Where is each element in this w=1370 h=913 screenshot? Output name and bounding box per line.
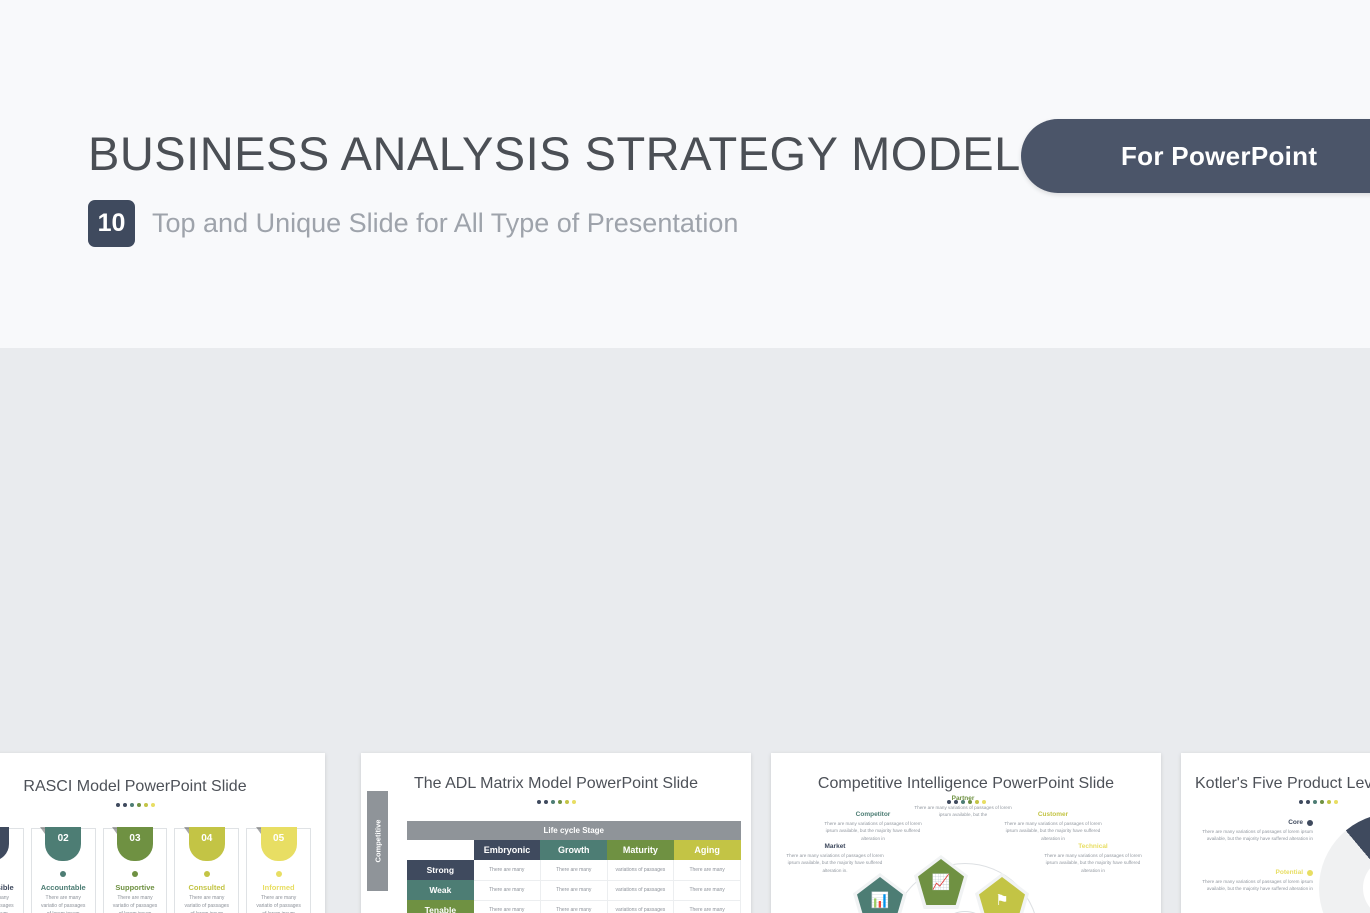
ci-note: TechnicalThere are many variations of pa… bbox=[1043, 843, 1143, 874]
ci-node-label: Technical bbox=[1043, 843, 1143, 850]
rasci-item[interactable]: 05InformedThere are many variatio of pas… bbox=[246, 828, 311, 913]
rasci-body: There are many variatio of passages of l… bbox=[182, 895, 231, 913]
slide-dot bbox=[544, 800, 548, 804]
adl-cell: There are many bbox=[540, 860, 607, 880]
slide-dot bbox=[151, 803, 155, 807]
adl-row-header: Tenable bbox=[407, 900, 474, 913]
slide-card-adl-matrix[interactable]: The ADL Matrix Model PowerPoint Slide Co… bbox=[361, 753, 751, 913]
rasci-items: 01ResponsibleThere are many variatio of … bbox=[0, 828, 311, 913]
slide-dot bbox=[1313, 800, 1317, 804]
kotler-note: PotentialThere are many variations of pa… bbox=[1195, 869, 1313, 893]
rasci-label: Informed bbox=[247, 883, 310, 892]
adl-cell: variations of passages bbox=[607, 860, 674, 880]
adl-cell: There are many bbox=[674, 860, 741, 880]
rasci-number-tab: 01 bbox=[0, 827, 9, 861]
adl-cell: variations of passages bbox=[607, 900, 674, 913]
adl-row-header: Strong bbox=[407, 860, 474, 880]
slide-title: The ADL Matrix Model PowerPoint Slide bbox=[361, 775, 751, 793]
ci-node-body: There are many variations of passages of… bbox=[913, 804, 1013, 819]
rasci-number-tab: 02 bbox=[45, 827, 81, 861]
rasci-body: There are many variatio of passages of l… bbox=[39, 895, 88, 913]
ci-pentagon[interactable]: 📊 bbox=[857, 877, 903, 913]
slide-count-badge: 10 bbox=[88, 200, 135, 247]
adl-cell: There are many bbox=[474, 860, 541, 880]
slide-card-kotler[interactable]: Kotler's Five Product Level Slide ⚙ Core… bbox=[1181, 753, 1370, 913]
ci-diagram: 🌐 🏦MarketThere are many variations of pa… bbox=[771, 815, 1161, 913]
slide-dot bbox=[558, 800, 562, 804]
bar-chart-icon: 📊 bbox=[871, 891, 890, 909]
hero-subtitle-row: 10 Top and Unique Slide for All Type of … bbox=[88, 200, 738, 247]
rasci-body: There are many variatio of passages of l… bbox=[111, 895, 160, 913]
ci-note: CustomerThere are many variations of pas… bbox=[1003, 811, 1103, 842]
slide-dots bbox=[1181, 800, 1370, 804]
slide-dots bbox=[361, 800, 751, 804]
slide-gallery: RASCI Model PowerPoint Slide 01Responsib… bbox=[0, 348, 1370, 913]
adl-cell: variations of passages bbox=[607, 880, 674, 900]
slide-dot bbox=[123, 803, 127, 807]
kotler-note-label: Potential bbox=[1195, 869, 1313, 876]
slide-dots bbox=[0, 803, 325, 807]
slide-card-competitive-intelligence[interactable]: Competitive Intelligence PowerPoint Slid… bbox=[771, 753, 1161, 913]
adl-column-header: Growth bbox=[540, 840, 607, 860]
slide-title: Competitive Intelligence PowerPoint Slid… bbox=[771, 775, 1161, 793]
slide-dot bbox=[1306, 800, 1310, 804]
adl-cell: There are many bbox=[540, 880, 607, 900]
slide-dot bbox=[1327, 800, 1331, 804]
flag-icon: ⚑ bbox=[995, 891, 1008, 909]
slide-card-rasci[interactable]: RASCI Model PowerPoint Slide 01Responsib… bbox=[0, 753, 325, 913]
kotler-note-dot bbox=[1307, 820, 1313, 826]
rasci-label: Accountable bbox=[32, 883, 95, 892]
rasci-body: There are many variatio of passages of l… bbox=[254, 895, 303, 913]
rasci-label: Supportive bbox=[104, 883, 167, 892]
rasci-label: Consulted bbox=[175, 883, 238, 892]
slide-dot bbox=[1299, 800, 1303, 804]
for-powerpoint-label: For PowerPoint bbox=[1121, 141, 1317, 172]
adl-tbody: StrongThere are manyThere are manyvariat… bbox=[407, 860, 741, 913]
slide-dot bbox=[144, 803, 148, 807]
kotler-note-body: There are many variations of passages of… bbox=[1195, 878, 1313, 893]
adl-row-header: Weak bbox=[407, 880, 474, 900]
slide-dot bbox=[137, 803, 141, 807]
adl-cell: There are many bbox=[674, 880, 741, 900]
rasci-dot bbox=[60, 871, 66, 877]
rasci-number-tab: 03 bbox=[117, 827, 153, 861]
ci-note: CompetitorThere are many variations of p… bbox=[823, 811, 923, 842]
adl-corner bbox=[407, 840, 474, 860]
adl-super-row: Life cycle Stage bbox=[407, 821, 741, 840]
adl-column-header: Aging bbox=[674, 840, 741, 860]
rasci-item[interactable]: 02AccountableThere are many variatio of … bbox=[31, 828, 96, 913]
adl-axis-label-text: Competitive bbox=[373, 820, 382, 863]
table-row: TenableThere are manyThere are manyvaria… bbox=[407, 900, 741, 913]
rasci-item[interactable]: 03SupportiveThere are many variatio of p… bbox=[103, 828, 168, 913]
rasci-number-tab: 04 bbox=[189, 827, 225, 861]
kotler-note-dot bbox=[1307, 870, 1313, 876]
ci-note: PartnerThere are many variations of pass… bbox=[913, 795, 1013, 819]
ci-node-body: There are many variations of passages of… bbox=[1003, 820, 1103, 842]
slide-dot bbox=[130, 803, 134, 807]
rasci-number-tab: 05 bbox=[261, 827, 297, 861]
factory-chart-icon: 📈 bbox=[932, 873, 951, 891]
rasci-dot bbox=[204, 871, 210, 877]
adl-cell: There are many bbox=[540, 900, 607, 913]
adl-thead: Life cycle Stage EmbryonicGrowthMaturity… bbox=[407, 821, 741, 860]
rasci-dot bbox=[276, 871, 282, 877]
ci-node-body: There are many variations of passages of… bbox=[823, 820, 923, 842]
slide-dot bbox=[1320, 800, 1324, 804]
slide-dot bbox=[537, 800, 541, 804]
kotler-donut-chart: ⚙ bbox=[1319, 813, 1370, 913]
ci-node-body: There are many variations of passages of… bbox=[785, 852, 885, 874]
ci-node-label: Partner bbox=[913, 795, 1013, 802]
rasci-dot bbox=[132, 871, 138, 877]
adl-super-header: Life cycle Stage bbox=[407, 821, 741, 840]
slide-dot bbox=[572, 800, 576, 804]
kotler-note-label: Core bbox=[1195, 819, 1313, 826]
ci-note: MarketThere are many variations of passa… bbox=[785, 843, 885, 874]
adl-table-wrap: Life cycle Stage EmbryonicGrowthMaturity… bbox=[407, 821, 741, 913]
table-row: StrongThere are manyThere are manyvariat… bbox=[407, 860, 741, 880]
slide-title: Kotler's Five Product Level Slide bbox=[1181, 775, 1370, 793]
for-powerpoint-badge: For PowerPoint bbox=[1021, 119, 1370, 193]
kotler-note: CoreThere are many variations of passage… bbox=[1195, 819, 1313, 843]
ci-node-label: Customer bbox=[1003, 811, 1103, 818]
slide-title: RASCI Model PowerPoint Slide bbox=[0, 778, 325, 796]
slide-dot bbox=[116, 803, 120, 807]
hero-subtitle: Top and Unique Slide for All Type of Pre… bbox=[152, 208, 738, 239]
page-root: BUSINESS ANALYSIS STRATEGY MODEL 10 Top … bbox=[0, 0, 1370, 913]
rasci-item[interactable]: 04ConsultedThere are many variatio of pa… bbox=[174, 828, 239, 913]
ci-node-body: There are many variations of passages of… bbox=[1043, 852, 1143, 874]
ci-node-label: Competitor bbox=[823, 811, 923, 818]
adl-axis-label: Competitive bbox=[367, 791, 388, 891]
adl-table: Life cycle Stage EmbryonicGrowthMaturity… bbox=[407, 821, 741, 913]
hero-section: BUSINESS ANALYSIS STRATEGY MODEL 10 Top … bbox=[0, 0, 1370, 348]
adl-cell: There are many bbox=[474, 880, 541, 900]
adl-column-header: Maturity bbox=[607, 840, 674, 860]
slide-dot bbox=[565, 800, 569, 804]
ci-node-label: Market bbox=[785, 843, 885, 850]
adl-column-header: Embryonic bbox=[474, 840, 541, 860]
adl-cell: There are many bbox=[674, 900, 741, 913]
slide-dot bbox=[551, 800, 555, 804]
rasci-item[interactable]: 01ResponsibleThere are many variatio of … bbox=[0, 828, 24, 913]
slide-dot bbox=[1334, 800, 1338, 804]
table-row: WeakThere are manyThere are manyvariatio… bbox=[407, 880, 741, 900]
adl-header-row: EmbryonicGrowthMaturityAging bbox=[407, 840, 741, 860]
page-title: BUSINESS ANALYSIS STRATEGY MODEL bbox=[88, 126, 1021, 181]
adl-cell: There are many bbox=[474, 900, 541, 913]
rasci-label: Responsible bbox=[0, 883, 23, 892]
kotler-note-body: There are many variations of passages of… bbox=[1195, 828, 1313, 843]
rasci-body: There are many variatio of passages of l… bbox=[0, 895, 16, 913]
